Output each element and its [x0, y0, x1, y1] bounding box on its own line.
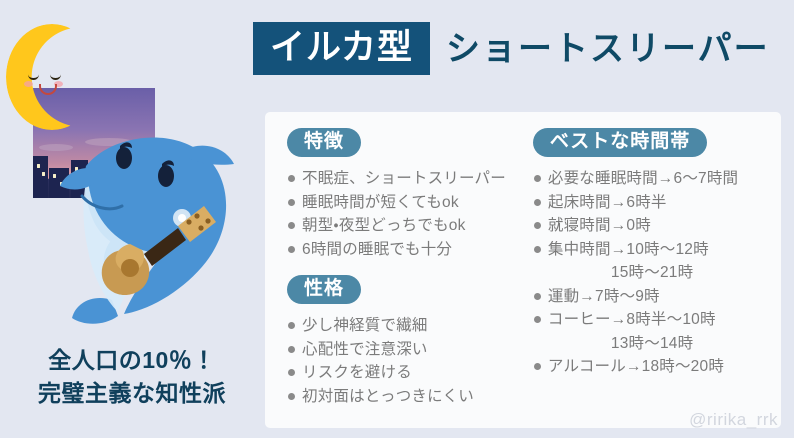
section-divider-space	[287, 261, 525, 275]
list-item: 起床時間→6時半	[533, 191, 767, 215]
illustration	[0, 0, 258, 340]
window-light	[37, 164, 40, 168]
moon-mouth	[39, 84, 57, 95]
list-item: 睡眠時間が短くてもok	[287, 191, 525, 215]
characteristics-list: 不眠症、ショートスリーパー 睡眠時間が短くてもok 朝型・夜型どっちでもok 6…	[287, 167, 525, 261]
caption-line-2: 完璧主義な知性派	[12, 377, 252, 410]
personality-list: 少し神経質で繊細 心配性で注意深い リスクを避ける 初対面はとっつきにくい	[287, 314, 525, 408]
best-time-slots-list: 必要な睡眠時間→6〜7時間 起床時間→6時半 就寝時間→0時 集中時間→10時〜…	[533, 167, 767, 379]
list-item-continuation: 13時〜14時	[533, 332, 767, 356]
caption-line-1: 全人口の10％！	[12, 344, 252, 377]
infographic-canvas: イルカ型 ショートスリーパー 特徴 不眠症、ショートスリーパー 睡眠時間が短くて…	[0, 0, 794, 438]
section-characteristics: 特徴 不眠症、ショートスリーパー 睡眠時間が短くてもok 朝型・夜型どっちでもo…	[287, 128, 525, 261]
list-item: コーヒー→8時半〜10時	[533, 308, 767, 332]
section-pill-personality: 性格	[287, 275, 361, 304]
list-item: 6時間の睡眠でも十分	[287, 238, 525, 262]
sleeping-crescent-moon-icon	[6, 24, 98, 130]
moon-eye-right	[50, 72, 61, 80]
page-title-badge: イルカ型	[253, 22, 430, 75]
list-item-continuation: 15時〜21時	[533, 261, 767, 285]
list-item: 就寝時間→0時	[533, 214, 767, 238]
moon-cheek-left	[24, 81, 33, 87]
section-best-time-slots: ベストな時間帯 必要な睡眠時間→6〜7時間 起床時間→6時半 就寝時間→0時 集…	[533, 128, 767, 379]
bottom-caption: 全人口の10％！ 完璧主義な知性派	[12, 344, 252, 409]
page-title-subtitle: ショートスリーパー	[446, 32, 770, 66]
content-panel: 特徴 不眠症、ショートスリーパー 睡眠時間が短くてもok 朝型・夜型どっちでもo…	[265, 112, 781, 428]
list-item: 初対面はとっつきにくい	[287, 385, 525, 409]
list-item: 運動→7時〜9時	[533, 285, 767, 309]
section-personality: 性格 少し神経質で繊細 心配性で注意深い リスクを避ける 初対面はとっつきにくい	[287, 275, 525, 408]
right-column: ベストな時間帯 必要な睡眠時間→6〜7時間 起床時間→6時半 就寝時間→0時 集…	[533, 128, 767, 418]
left-column: 特徴 不眠症、ショートスリーパー 睡眠時間が短くてもok 朝型・夜型どっちでもo…	[287, 128, 525, 418]
watermark: @ririka_rrk	[689, 410, 778, 430]
section-pill-best-time-slots: ベストな時間帯	[533, 128, 707, 157]
list-item: リスクを避ける	[287, 361, 525, 385]
list-item: 心配性で注意深い	[287, 338, 525, 362]
list-item: 不眠症、ショートスリーパー	[287, 167, 525, 191]
list-item: 集中時間→10時〜12時	[533, 238, 767, 262]
list-item: 朝型・夜型どっちでもok	[287, 214, 525, 238]
dolphin-with-ukulele-icon	[58, 122, 258, 334]
moon-eye-left	[28, 72, 39, 80]
window-light	[42, 172, 45, 176]
list-item: アルコール→18時〜20時	[533, 355, 767, 379]
headline: イルカ型 ショートスリーパー	[253, 22, 770, 75]
section-pill-characteristics: 特徴	[287, 128, 361, 157]
window-light	[53, 174, 56, 178]
list-item: 少し神経質で繊細	[287, 314, 525, 338]
building-shape	[33, 156, 48, 198]
moon-face	[26, 68, 72, 108]
list-item: 必要な睡眠時間→6〜7時間	[533, 167, 767, 191]
